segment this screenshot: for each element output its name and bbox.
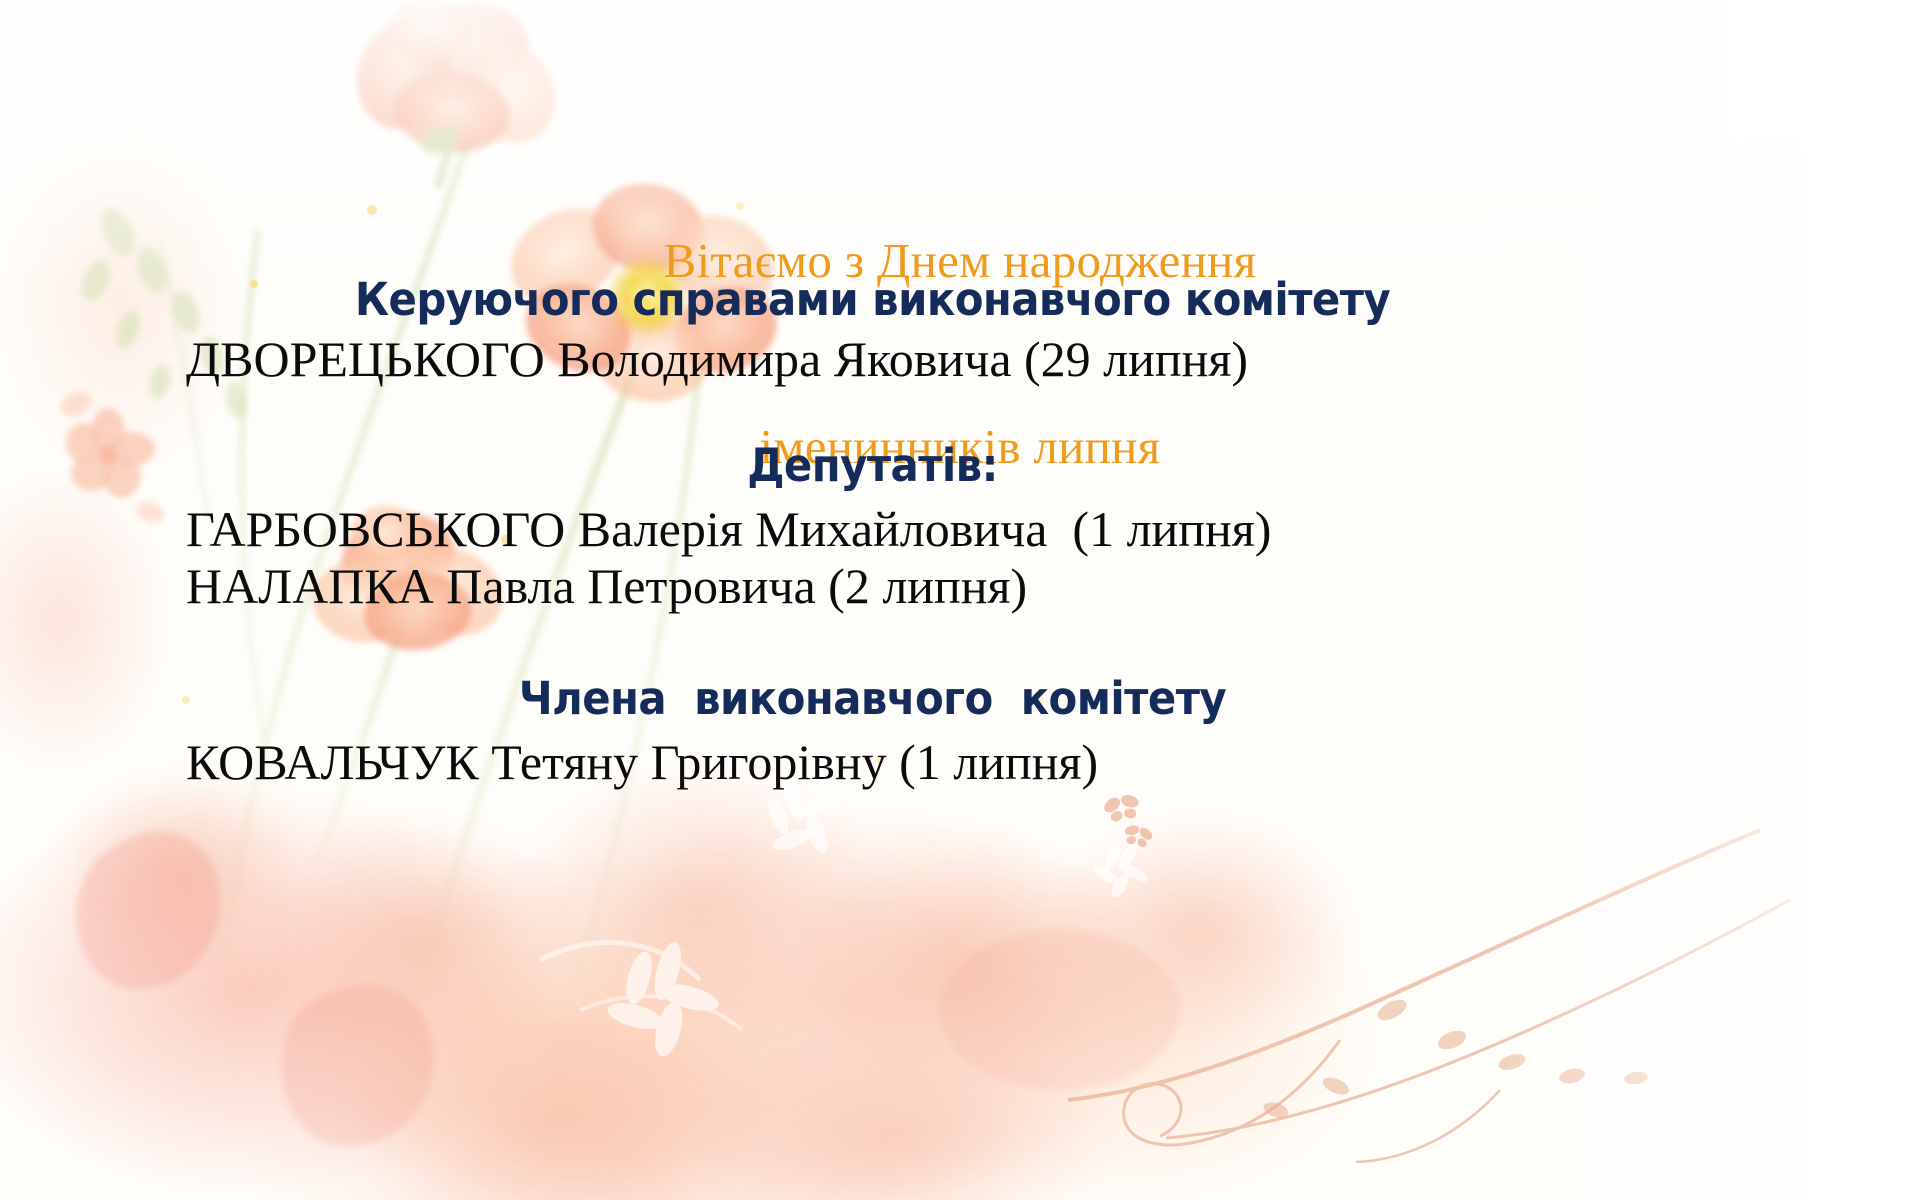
section-heading-committee-member: Члена виконавчого комітету (61, 673, 1684, 725)
honoree-harbovskyi: ГАРБОВСЬКОГО Валерія Михайловича (1 липн… (186, 500, 1271, 558)
honoree-dvoretskyi: ДВОРЕЦЬКОГО Володимира Яковича (29 липня… (186, 330, 1248, 388)
honoree-nalapka: НАЛАПКА Павла Петровича (2 липня) (186, 557, 1027, 615)
slide-content: Вітаємо з Днем народження іменинників ли… (0, 0, 1920, 1200)
honoree-kovalchuk: КОВАЛЬЧУК Тетяну Григорівну (1 липня) (186, 733, 1098, 791)
section-heading-deputies: Депутатів: (61, 440, 1684, 492)
section-heading-managing-affairs: Керуючого справами виконавчого комітету (61, 274, 1684, 326)
slide-canvas: Вітаємо з Днем народження іменинників ли… (0, 0, 1920, 1200)
